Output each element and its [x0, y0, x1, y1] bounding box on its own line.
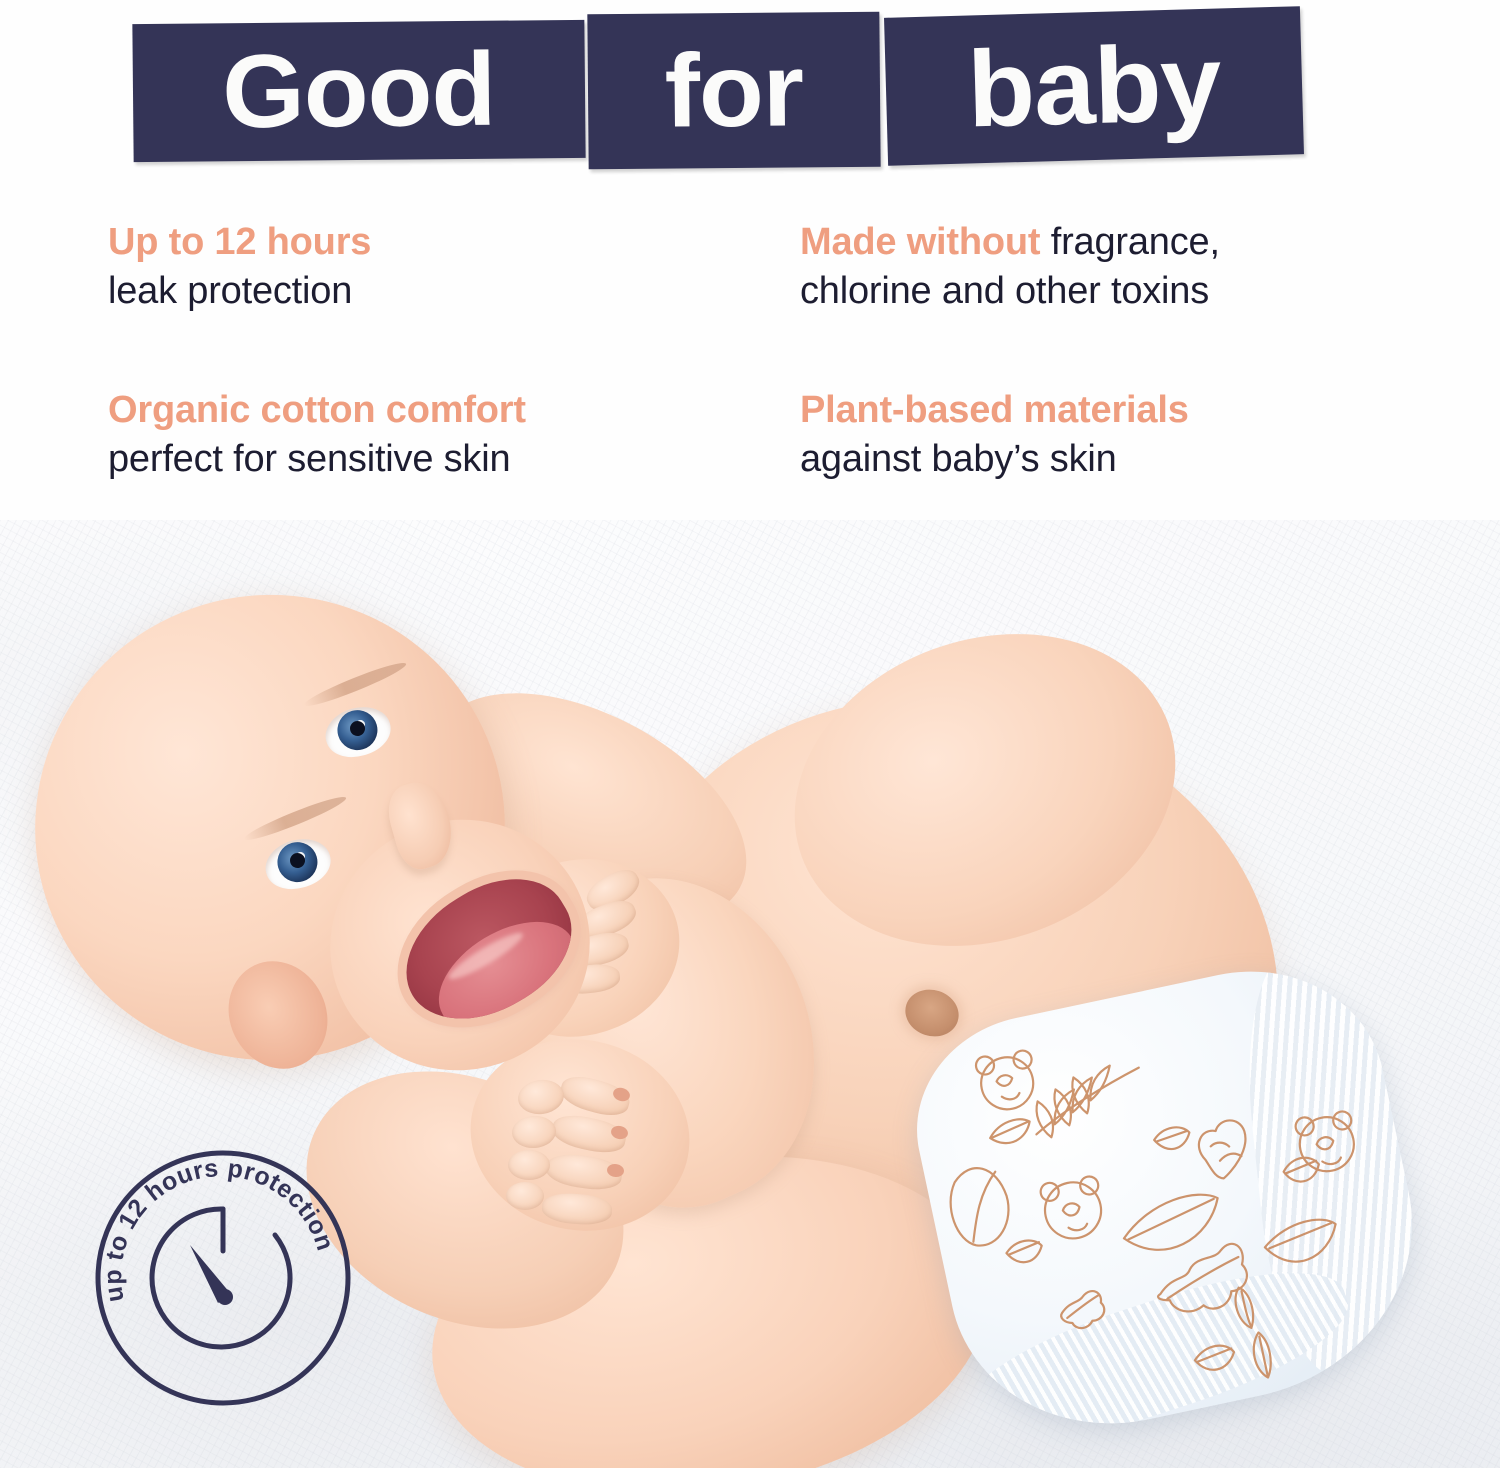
bear-face-motif-2: [1039, 1173, 1108, 1244]
branch-motif: [1026, 1060, 1150, 1140]
feature-text: Made without fragrance, chlorine and oth…: [800, 218, 1400, 315]
feature-item-made-without: Made without fragrance, chlorine and oth…: [800, 218, 1400, 315]
oak-leaf-motif-small: [1057, 1289, 1107, 1332]
feature-item-organic-cotton: Organic cotton comfort perfect for sensi…: [108, 386, 708, 483]
leaf-motif-bottom-1: [1193, 1342, 1237, 1373]
leaf-motif-small-1: [988, 1117, 1034, 1147]
heart-motif: [1195, 1118, 1253, 1182]
leaf-motif-bottom-2: [1250, 1331, 1275, 1379]
feature-list: Up to 12 hours leak protection Made with…: [0, 218, 1500, 518]
headline-banner: Good for baby: [0, 0, 1500, 190]
headline-word-block-3: baby: [884, 6, 1304, 166]
headline-word-for: for: [664, 38, 803, 143]
feature-text: Up to 12 hours leak protection: [108, 218, 708, 315]
headline-word-block-1: Good: [132, 20, 585, 162]
feature-line2: perfect for sensitive skin: [108, 435, 708, 484]
baby-toe: [506, 1182, 544, 1210]
feature-rest: fragrance,: [1040, 221, 1219, 263]
headline-word-baby: baby: [966, 28, 1222, 143]
leaf-motif-narrow: [1232, 1286, 1256, 1330]
leaf-motif-large-1: [944, 1163, 1016, 1251]
feature-text: Plant-based materials against baby’s ski…: [800, 386, 1400, 483]
feature-accent: Made without: [800, 221, 1040, 263]
feature-item-plant-based: Plant-based materials against baby’s ski…: [800, 386, 1400, 483]
feature-line2: chlorine and other toxins: [800, 267, 1400, 316]
leaf-motif-large-3: [1261, 1215, 1341, 1268]
protection-badge: up to 12 hours protection: [92, 1147, 354, 1409]
leaf-motif-small-4: [1005, 1238, 1045, 1266]
bear-face-motif-1: [974, 1047, 1041, 1114]
product-infographic: Good for baby Up to 12 hours leak protec…: [0, 0, 1500, 1468]
headline-word-block-2: for: [587, 12, 880, 170]
leaf-motif-large-2: [1118, 1190, 1226, 1258]
clock-gauge-icon: [152, 1209, 290, 1347]
feature-accent: Organic cotton comfort: [108, 389, 526, 431]
feature-line2: leak protection: [108, 267, 708, 316]
feature-accent: Plant-based materials: [800, 389, 1189, 431]
feature-accent: Up to 12 hours: [108, 221, 371, 263]
headline-word-good: Good: [222, 38, 496, 145]
baby-toe: [508, 1150, 550, 1180]
feature-text: Organic cotton comfort perfect for sensi…: [108, 386, 708, 483]
feature-line2: against baby’s skin: [800, 435, 1400, 484]
leaf-motif-small-2: [1152, 1124, 1192, 1152]
feature-item-leak-protection: Up to 12 hours leak protection: [108, 218, 708, 315]
